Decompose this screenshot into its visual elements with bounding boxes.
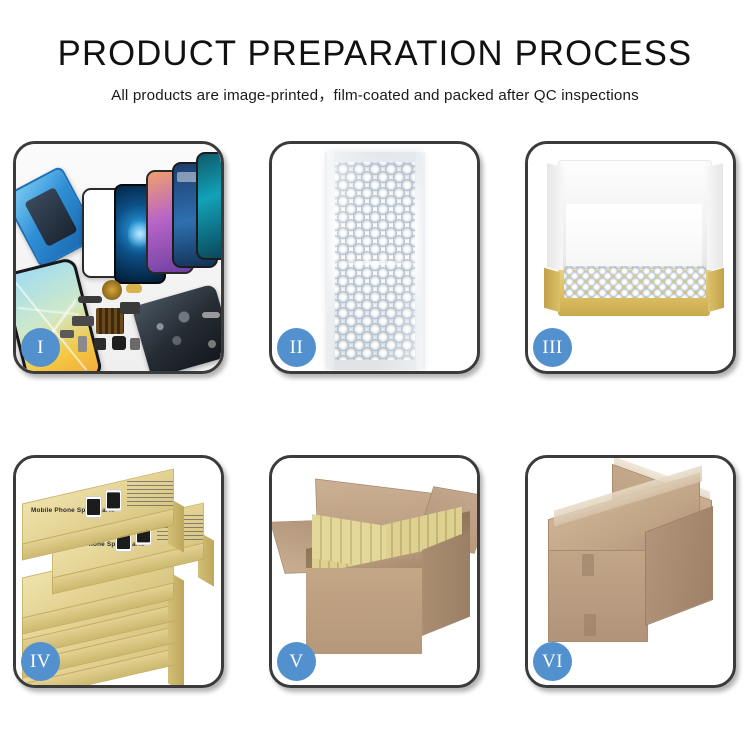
process-steps-grid: I II III bbox=[13, 141, 737, 688]
spare-part-icon bbox=[94, 338, 106, 350]
bubble-wrapped-item-icon bbox=[327, 152, 423, 370]
mailer-foam-insert-icon bbox=[566, 204, 702, 270]
step-panel-1: I bbox=[13, 141, 224, 374]
bubble-wrapped-item-icon bbox=[564, 266, 706, 298]
spare-part-icon bbox=[102, 280, 122, 300]
step-panel-6: VI bbox=[525, 455, 736, 688]
carton-seam bbox=[582, 554, 594, 576]
page-subtitle: All products are image-printed，film-coat… bbox=[0, 73, 750, 105]
box-label-text: Mobile Phone Spare Parts bbox=[31, 507, 115, 514]
spare-part-icon bbox=[78, 336, 87, 352]
spare-part-icon bbox=[126, 284, 142, 293]
step-badge-2: II bbox=[277, 328, 316, 367]
spare-part-icon bbox=[112, 336, 126, 350]
spare-part-icon bbox=[60, 330, 74, 338]
carton-right-face bbox=[422, 531, 470, 636]
carton-seam bbox=[584, 614, 596, 636]
spare-part-icon bbox=[208, 340, 216, 348]
phone-teal-screen-icon bbox=[196, 152, 221, 260]
box-spec-lines bbox=[127, 481, 173, 507]
step-panel-4: Mobile Phone Spare Parts Mobile Phone Sp… bbox=[13, 455, 224, 688]
spare-part-icon bbox=[202, 312, 220, 318]
page-title: PRODUCT PREPARATION PROCESS bbox=[4, 0, 747, 73]
page-header: PRODUCT PREPARATION PROCESS All products… bbox=[0, 0, 750, 105]
spare-part-icon bbox=[72, 316, 94, 326]
carton-front-face bbox=[548, 550, 648, 642]
wrap-seam bbox=[331, 261, 419, 265]
step-panel-5: V bbox=[269, 455, 480, 688]
spare-part-icon bbox=[78, 296, 102, 303]
box-phone-image bbox=[85, 496, 102, 518]
phone-logic-board-icon bbox=[131, 284, 221, 371]
step-panel-2: II bbox=[269, 141, 480, 374]
box-phone-image bbox=[105, 489, 122, 511]
carton-front-face bbox=[306, 568, 422, 654]
step-badge-3: III bbox=[533, 328, 572, 367]
step-badge-6: VI bbox=[533, 642, 572, 681]
spare-part-icon bbox=[130, 338, 140, 350]
step-badge-4: IV bbox=[21, 642, 60, 681]
spare-part-icon bbox=[120, 302, 140, 314]
step-badge-1: I bbox=[21, 328, 60, 367]
step-badge-5: V bbox=[277, 642, 316, 681]
step-panel-3: III bbox=[525, 141, 736, 374]
